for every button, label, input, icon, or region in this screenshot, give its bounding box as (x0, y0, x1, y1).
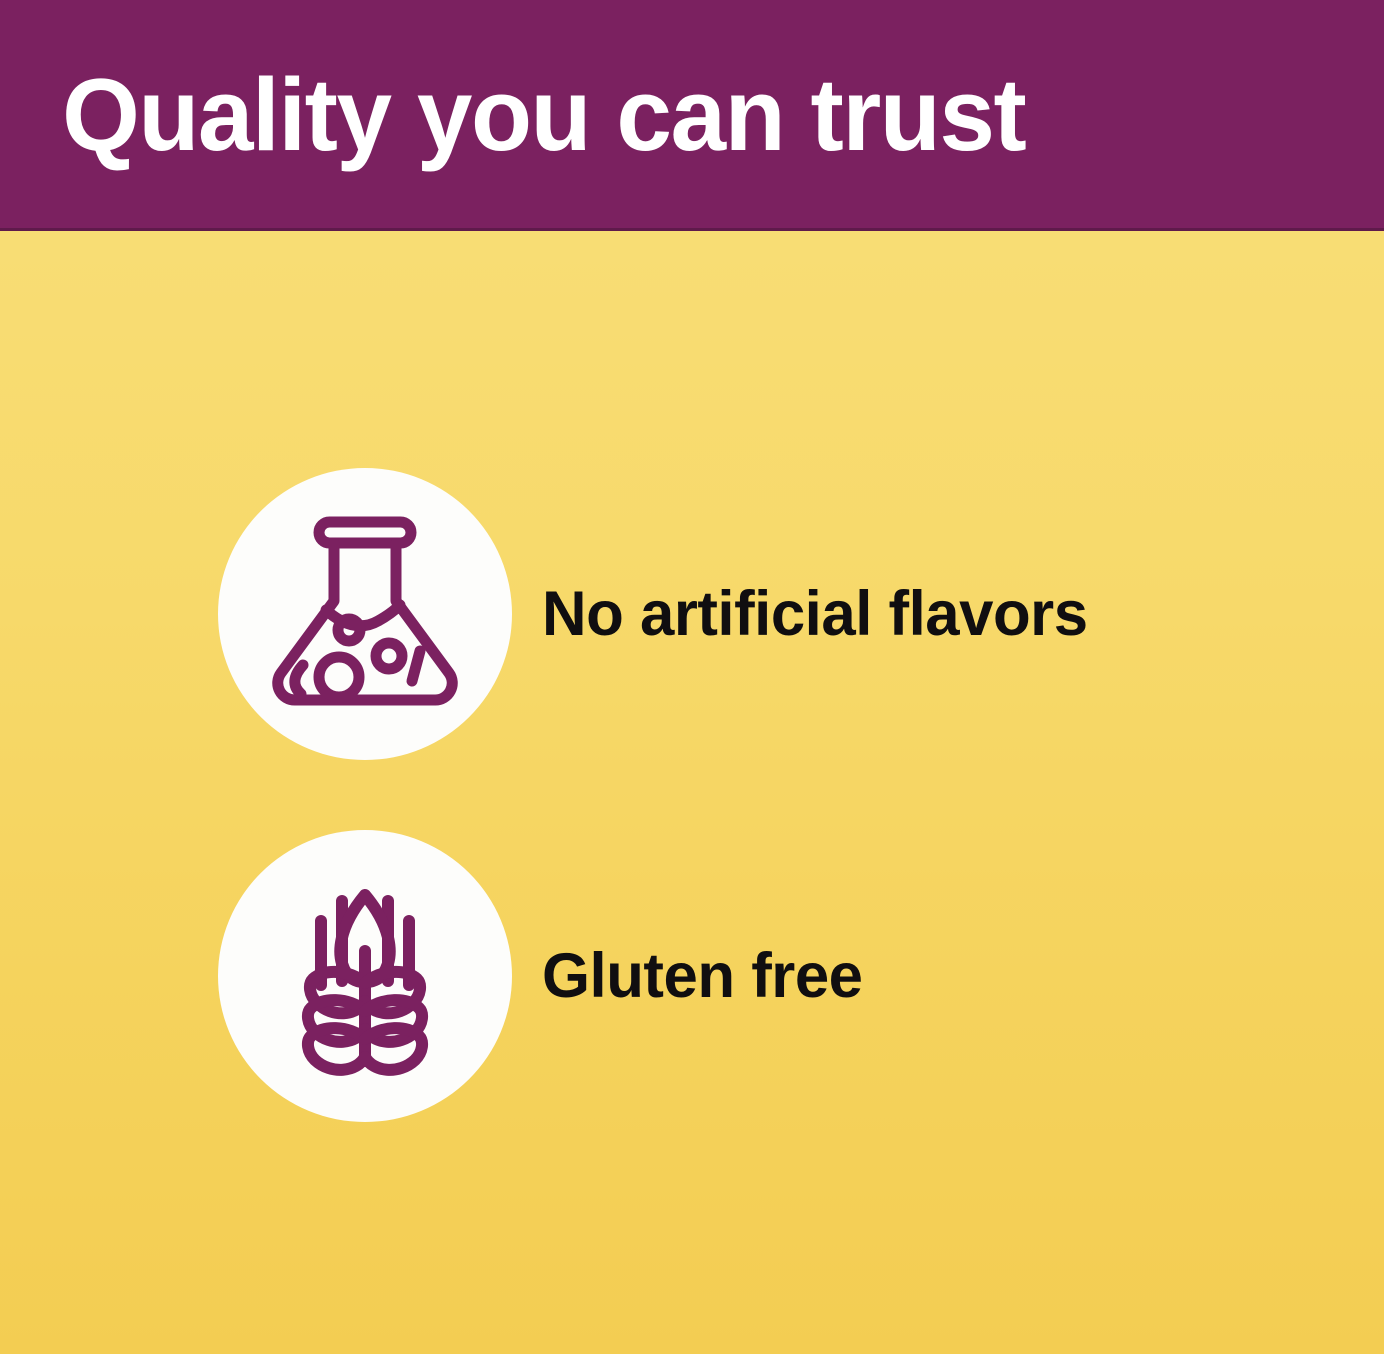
feature-item-gluten-free: Gluten free (0, 830, 1384, 1122)
feature-list: No artificial flavors (0, 228, 1384, 1354)
feature-icon-badge (218, 830, 512, 1122)
page-title: Quality you can trust (0, 63, 1025, 166)
feature-item-no-artificial-flavors: No artificial flavors (0, 468, 1384, 760)
flask-icon (260, 509, 470, 719)
feature-label: Gluten free (542, 943, 863, 1009)
wheat-icon (262, 873, 468, 1079)
feature-label: No artificial flavors (542, 581, 1088, 647)
quality-banner: Quality you can trust (0, 0, 1384, 1354)
header-band: Quality you can trust (0, 0, 1384, 231)
feature-icon-badge (218, 468, 512, 760)
